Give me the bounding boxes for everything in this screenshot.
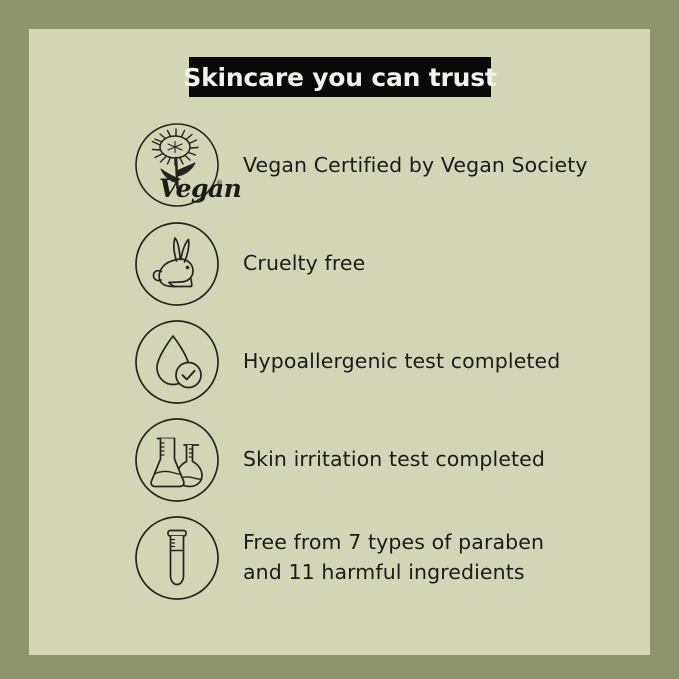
infographic-frame: Skincare you can trust [0, 0, 679, 679]
svg-text:Vegan: Vegan [159, 174, 241, 203]
vegan-society-sunflower-logo: Vegan ® [129, 121, 225, 211]
list-item: Vegan ® Vegan Certified by Vegan Society [29, 117, 650, 215]
list-item: Cruelty free [29, 215, 650, 313]
claims-list: Vegan ® Vegan Certified by Vegan Society [29, 117, 650, 607]
water-droplet-check-icon [129, 317, 225, 407]
svg-text:®: ® [216, 179, 223, 187]
content-panel: Skincare you can trust [29, 29, 650, 655]
title-banner: Skincare you can trust [189, 57, 491, 97]
list-item-label: Vegan Certified by Vegan Society [243, 151, 588, 180]
lab-flasks-icon [129, 415, 225, 505]
list-item-label: Cruelty free [243, 249, 365, 278]
rabbit-icon [129, 219, 225, 309]
list-item: Hypoallergenic test completed [29, 313, 650, 411]
list-item-label: Hypoallergenic test completed [243, 347, 560, 376]
page-title: Skincare you can trust [183, 65, 496, 90]
list-item: Free from 7 types of paraben and 11 harm… [29, 509, 650, 607]
list-item-label: Free from 7 types of paraben and 11 harm… [243, 528, 544, 587]
list-item: Skin irritation test completed [29, 411, 650, 509]
test-tube-icon [129, 513, 225, 603]
list-item-label: Skin irritation test completed [243, 445, 545, 474]
